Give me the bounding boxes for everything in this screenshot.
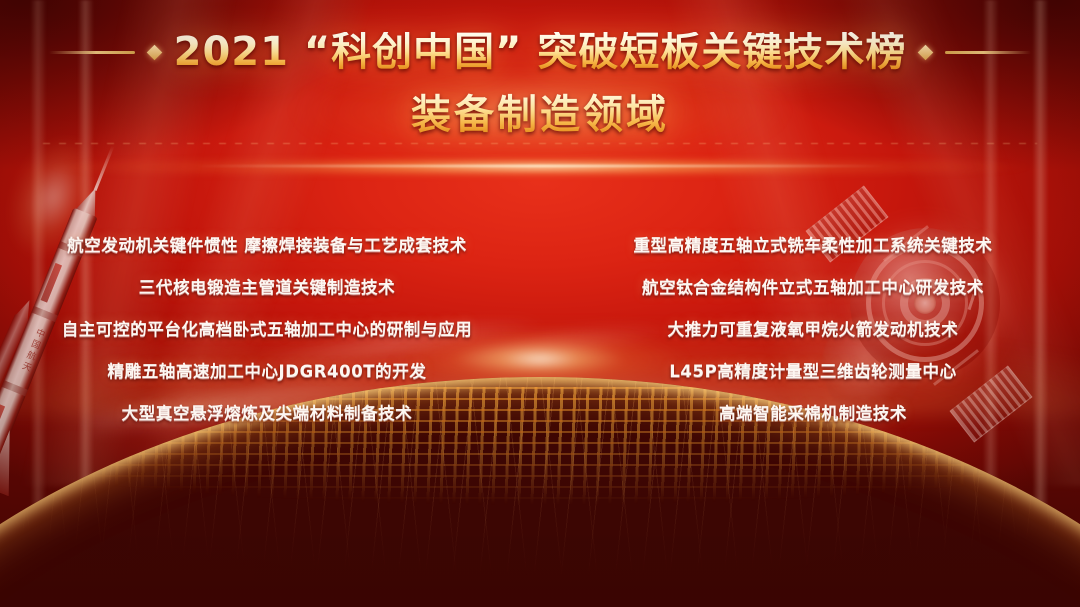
- title-block: 2021 “科创中国” 突破短板关键技术榜 装备制造领域: [0, 32, 1080, 140]
- list-item[interactable]: 自主可控的平台化高档卧式五轴加工中心的研制与应用: [62, 316, 472, 340]
- ornament-line-right: [945, 51, 1031, 54]
- diamond-ornament-right: [918, 45, 934, 61]
- list-item[interactable]: 高端智能采棉机制造技术: [719, 400, 907, 424]
- list-item[interactable]: L45P高精度计量型三维齿轮测量中心: [669, 358, 956, 382]
- list-item[interactable]: 大型真空悬浮熔炼及尖端材料制备技术: [122, 400, 413, 424]
- ornament-line-left: [49, 51, 135, 54]
- diamond-ornament-left: [146, 45, 162, 61]
- list-item[interactable]: 三代核电锻造主管道关键制造技术: [139, 274, 396, 298]
- page-title: 2021 “科创中国” 突破短板关键技术榜: [174, 32, 907, 74]
- title-row-main: 2021 “科创中国” 突破短板关键技术榜: [0, 32, 1080, 74]
- list-item[interactable]: 大推力可重复液氧甲烷火箭发动机技术: [668, 316, 959, 340]
- list-item[interactable]: 航空发动机关键件惯性 摩擦焊接装备与工艺成套技术: [67, 232, 467, 256]
- list-item[interactable]: 精雕五轴高速加工中心JDGR400T的开发: [108, 358, 427, 382]
- page-subtitle: 装备制造领域: [0, 82, 1080, 140]
- list-item[interactable]: 航空钛合金结构件立式五轴加工中心研发技术: [642, 274, 984, 298]
- slide-stage: 中国航天 2021 “科创中国” 突破短板关键技术榜 装备制造领域: [0, 0, 1080, 607]
- list-item[interactable]: 重型高精度五轴立式铣车柔性加工系统关键技术: [633, 232, 992, 256]
